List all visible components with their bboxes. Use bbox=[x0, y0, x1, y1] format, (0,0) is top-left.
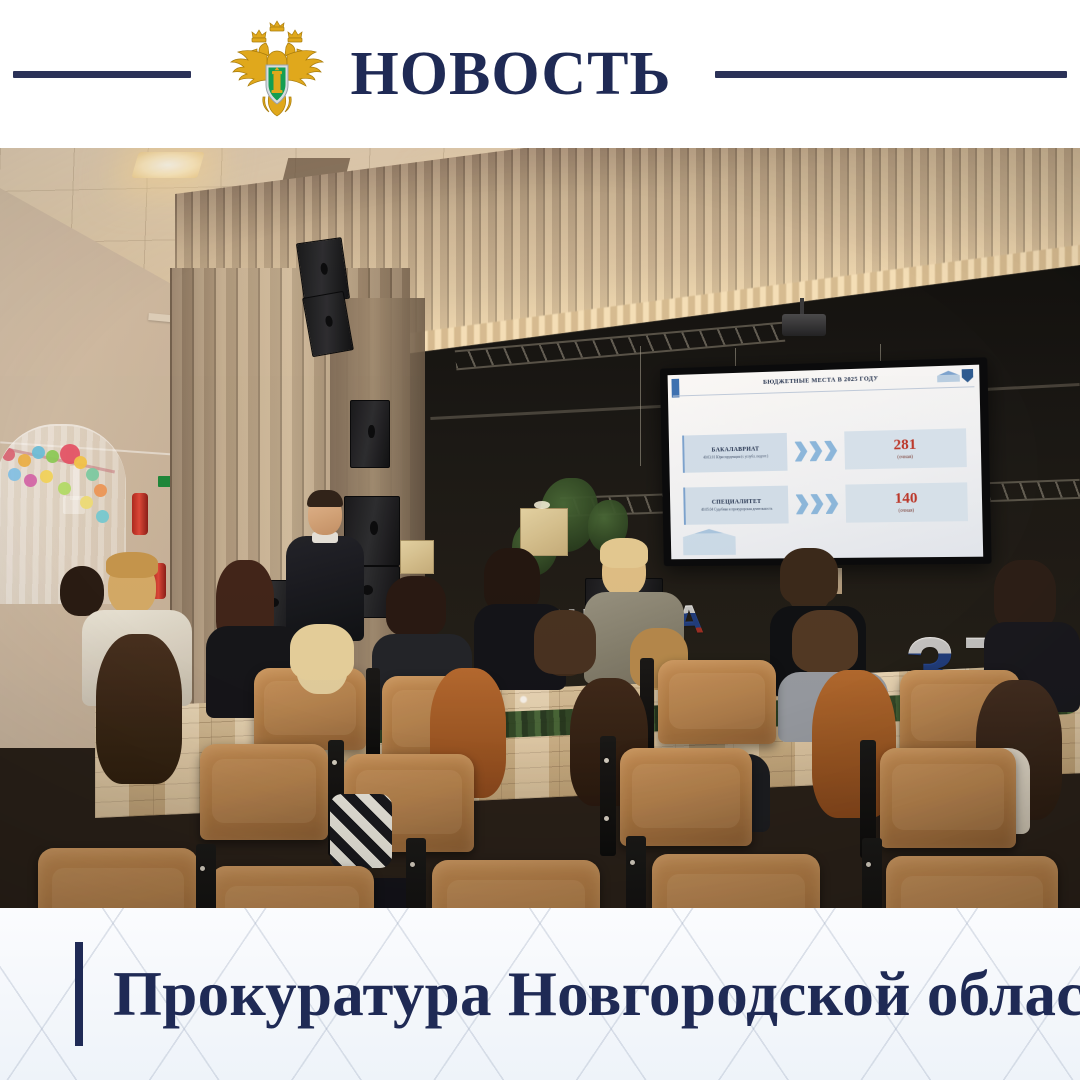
footer-accent-bar bbox=[75, 942, 83, 1046]
projector bbox=[782, 314, 826, 336]
organization-name: Прокуратура Новгородской области bbox=[113, 958, 1080, 1031]
gift-bow bbox=[534, 501, 550, 509]
header-rule-right bbox=[715, 71, 1067, 78]
paper-flower bbox=[40, 470, 53, 483]
seat-frame bbox=[366, 668, 380, 764]
seat-bolt bbox=[410, 862, 415, 867]
speaker-hair bbox=[307, 490, 343, 507]
header-rule-left bbox=[13, 71, 191, 78]
seat-frame bbox=[862, 838, 882, 908]
chevron-arrows-icon bbox=[787, 440, 845, 461]
slide-row-title: БАКАЛАВРИАТ bbox=[712, 446, 760, 453]
audience-hair bbox=[534, 610, 596, 674]
slide-row-subtitle: 40.05.04 Судебная и прокурорская деятель… bbox=[701, 506, 772, 512]
seat-bolt bbox=[630, 860, 635, 865]
seat-frame bbox=[600, 736, 616, 856]
paper-flower bbox=[96, 510, 109, 523]
fire-extinguisher bbox=[132, 493, 148, 535]
auditorium-seat bbox=[652, 854, 820, 908]
audience-hair bbox=[386, 576, 446, 636]
footer: Прокуратура Новгородской области bbox=[0, 908, 1080, 1080]
gift-box bbox=[520, 508, 568, 556]
seat-frame bbox=[626, 836, 646, 908]
presentation-screen: БЮДЖЕТНЫЕ МЕСТА В 2025 ГОДУ БАКАЛАВРИАТ … bbox=[660, 357, 992, 566]
slide-row-value: 140 bbox=[895, 491, 918, 507]
auditorium-seat bbox=[38, 848, 198, 908]
paper-flower bbox=[2, 448, 15, 461]
paper-flower bbox=[8, 468, 21, 481]
audience-head bbox=[60, 566, 104, 616]
slide-row-value-box: 140 (очная) bbox=[845, 482, 968, 522]
seat-frame bbox=[406, 838, 426, 908]
ceiling-light bbox=[131, 152, 204, 178]
logo-building-icon bbox=[937, 370, 960, 382]
paper-flower bbox=[58, 482, 71, 495]
slide-row-value-note: (очная) bbox=[898, 509, 914, 514]
paper-flower bbox=[94, 484, 107, 497]
slide-row-value-box: 281 (очная) bbox=[844, 428, 967, 469]
auditorium-seat bbox=[658, 660, 776, 744]
paper-flower bbox=[46, 450, 59, 463]
rigging-line bbox=[640, 346, 641, 466]
audience-hair bbox=[994, 560, 1056, 630]
seat-bolt bbox=[604, 758, 609, 763]
paper-flower bbox=[86, 468, 99, 481]
auditorium-seat bbox=[880, 748, 1016, 848]
auditorium-seat bbox=[620, 748, 752, 846]
slide-row: СПЕЦИАЛИТЕТ 40.05.04 Судебная и прокурор… bbox=[683, 482, 968, 524]
university-logo-icon bbox=[937, 369, 973, 383]
paper-flower bbox=[80, 496, 93, 509]
slide-row-label: СПЕЦИАЛИТЕТ 40.05.04 Судебная и прокурор… bbox=[683, 486, 788, 525]
seat-bolt bbox=[200, 866, 205, 871]
seat-frame bbox=[196, 844, 216, 908]
audience-hair bbox=[290, 624, 354, 680]
paper-flower bbox=[24, 474, 37, 487]
seat-bolt bbox=[332, 760, 337, 765]
stage-speaker bbox=[350, 400, 390, 468]
slide-title: БЮДЖЕТНЫЕ МЕСТА В 2025 ГОДУ bbox=[668, 372, 980, 389]
slide-row-title: СПЕЦИАЛИТЕТ bbox=[712, 499, 762, 506]
backpack bbox=[330, 794, 392, 868]
slide-row: БАКАЛАВРИАТ 40.03.01 Юриспруденция (с уг… bbox=[682, 428, 967, 472]
slide-divider bbox=[673, 386, 975, 396]
audience-hair bbox=[792, 610, 858, 672]
seat-bolt bbox=[866, 862, 871, 867]
gift-box bbox=[400, 540, 434, 574]
slide-row-value: 281 bbox=[893, 438, 916, 454]
paper-flower bbox=[18, 454, 31, 467]
slide-row-subtitle: 40.03.01 Юриспруденция (с углубл. подгот… bbox=[703, 454, 768, 460]
page-title: НОВОСТЬ bbox=[351, 43, 672, 105]
audience-hair bbox=[106, 552, 158, 578]
audience-long-hair bbox=[96, 634, 182, 784]
audience-hair bbox=[780, 548, 838, 604]
auditorium-seat bbox=[432, 860, 600, 908]
audience-hair bbox=[600, 538, 648, 568]
audience-hair bbox=[484, 548, 540, 612]
logo-shield-icon bbox=[962, 369, 974, 383]
seat-bolt bbox=[604, 816, 609, 821]
header: НОВОСТЬ bbox=[0, 0, 1080, 148]
paper-flower bbox=[32, 446, 45, 459]
slide-row-label: БАКАЛАВРИАТ 40.03.01 Юриспруденция (с уг… bbox=[682, 433, 787, 473]
slide-row-value-note: (очная) bbox=[897, 455, 913, 460]
slide-building-graphic bbox=[679, 527, 739, 555]
auditorium-seat bbox=[210, 866, 374, 908]
news-photo: БЮДЖЕТНЫЕ МЕСТА В 2025 ГОДУ БАКАЛАВРИАТ … bbox=[0, 148, 1080, 908]
chevron-arrows-icon bbox=[788, 494, 846, 515]
slide: БЮДЖЕТНЫЕ МЕСТА В 2025 ГОДУ БАКАЛАВРИАТ … bbox=[668, 365, 984, 560]
paper-flower bbox=[74, 456, 87, 469]
garland-light bbox=[520, 696, 527, 703]
auditorium-seat bbox=[200, 744, 328, 840]
auditorium-seat bbox=[886, 856, 1058, 908]
prosecutor-eagle-emblem-icon bbox=[229, 17, 325, 129]
news-card: НОВОСТЬ bbox=[0, 0, 1080, 1080]
